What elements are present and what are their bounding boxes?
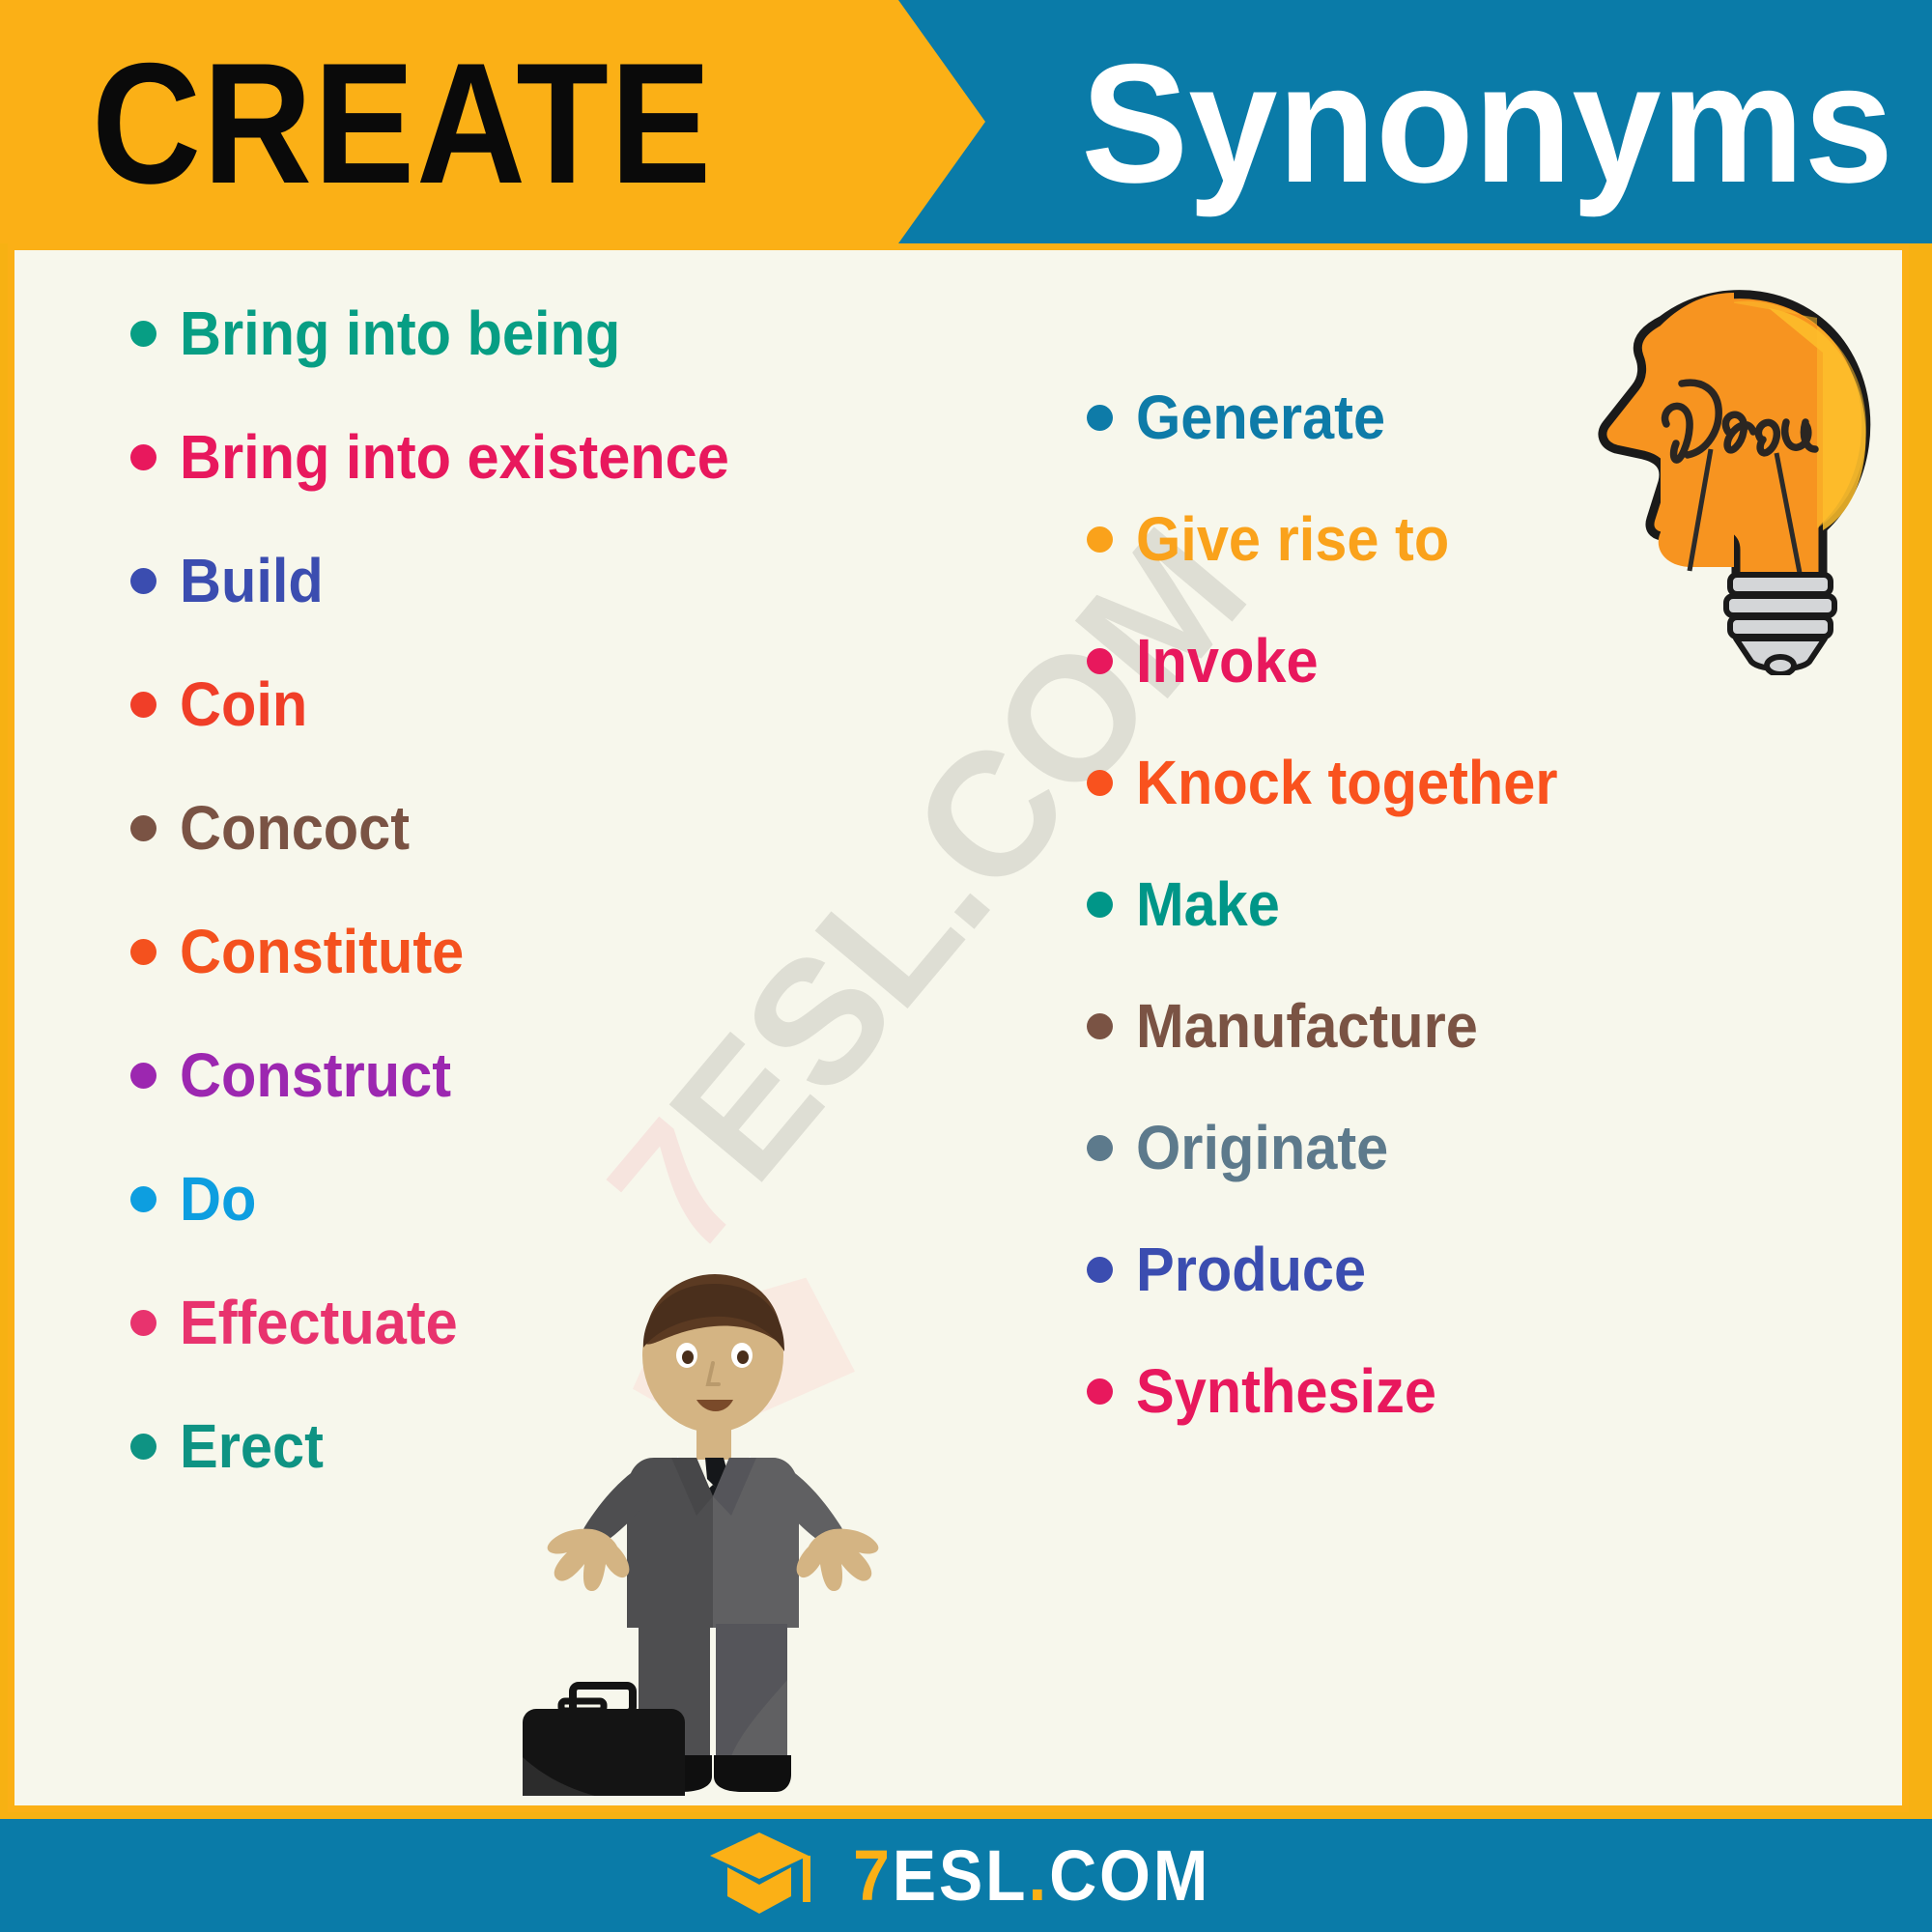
- list-item[interactable]: Erect: [130, 1384, 980, 1508]
- list-item[interactable]: Bring into being: [130, 271, 980, 395]
- synonym-label: Bring into being: [180, 302, 620, 364]
- synonym-label: Do: [180, 1168, 256, 1230]
- page-title-keyword: CREATE: [92, 27, 789, 220]
- page-title: Synonyms: [1081, 17, 1893, 230]
- list-item[interactable]: Synthesize: [1087, 1330, 1821, 1452]
- list-item[interactable]: Construct: [130, 1013, 980, 1137]
- list-item[interactable]: Invoke: [1087, 600, 1821, 722]
- synonym-label: Produce: [1136, 1238, 1366, 1300]
- bullet-icon: [1087, 405, 1113, 431]
- logo-dot: .: [1028, 1835, 1049, 1916]
- list-item[interactable]: Generate: [1087, 356, 1821, 478]
- list-item[interactable]: Do: [130, 1137, 980, 1261]
- synonym-label: Give rise to: [1136, 508, 1449, 570]
- bullet-icon: [1087, 1013, 1113, 1039]
- infographic-poster: CREATE Synonyms 7ESL.COM: [0, 0, 1932, 1932]
- synonym-label: Invoke: [1136, 630, 1319, 692]
- bullet-icon: [130, 1434, 156, 1460]
- synonym-label: Generate: [1136, 386, 1385, 448]
- graduation-cap-icon: [706, 1827, 812, 1924]
- synonyms-column-right: Generate Give rise to Invoke Knock toget…: [1087, 356, 1821, 1452]
- synonym-label: Make: [1136, 873, 1280, 935]
- bullet-icon: [130, 568, 156, 594]
- bullet-icon: [130, 692, 156, 718]
- bullet-icon: [130, 1063, 156, 1089]
- logo-esl: ESL: [893, 1835, 1029, 1916]
- synonym-label: Bring into existence: [180, 426, 729, 488]
- list-item[interactable]: Make: [1087, 843, 1821, 965]
- synonym-label: Synthesize: [1136, 1360, 1436, 1422]
- logo-com: COM: [1049, 1835, 1210, 1916]
- list-item[interactable]: Produce: [1087, 1208, 1821, 1330]
- bullet-icon: [130, 815, 156, 841]
- synonym-label: Manufacture: [1136, 995, 1478, 1057]
- synonym-label: Originate: [1136, 1117, 1388, 1179]
- bullet-icon: [1087, 1378, 1113, 1405]
- bullet-icon: [130, 321, 156, 347]
- bullet-icon: [130, 939, 156, 965]
- list-item[interactable]: Constitute: [130, 890, 980, 1013]
- bullet-icon: [130, 1186, 156, 1212]
- bullet-icon: [130, 444, 156, 470]
- synonym-label: Concoct: [180, 797, 410, 859]
- list-item[interactable]: Coin: [130, 642, 980, 766]
- bullet-icon: [1087, 770, 1113, 796]
- synonym-label: Knock together: [1136, 752, 1558, 813]
- bullet-icon: [1087, 1135, 1113, 1161]
- synonym-label: Coin: [180, 673, 307, 735]
- bullet-icon: [1087, 648, 1113, 674]
- list-item[interactable]: Manufacture: [1087, 965, 1821, 1087]
- synonym-label: Effectuate: [180, 1292, 458, 1353]
- bullet-icon: [1087, 892, 1113, 918]
- synonym-label: Erect: [180, 1415, 324, 1477]
- content-card: 7ESL.COM: [8, 243, 1909, 1812]
- logo-seven: 7: [853, 1835, 893, 1916]
- synonym-label: Build: [180, 550, 324, 611]
- bullet-icon: [1087, 1257, 1113, 1283]
- bullet-icon: [1087, 526, 1113, 553]
- header-banner: CREATE Synonyms: [0, 0, 1932, 243]
- list-item[interactable]: Bring into existence: [130, 395, 980, 519]
- synonym-label: Construct: [180, 1044, 451, 1106]
- footer-bar: 7ESL.COM: [0, 1819, 1932, 1932]
- list-item[interactable]: Originate: [1087, 1087, 1821, 1208]
- synonym-label: Constitute: [180, 921, 464, 982]
- list-item[interactable]: Build: [130, 519, 980, 642]
- bullet-icon: [130, 1310, 156, 1336]
- list-item[interactable]: Effectuate: [130, 1261, 980, 1384]
- list-item[interactable]: Knock together: [1087, 722, 1821, 843]
- site-logo-text[interactable]: 7ESL.COM: [853, 1840, 1210, 1912]
- list-item[interactable]: Give rise to: [1087, 478, 1821, 600]
- synonyms-column-left: Bring into being Bring into existence Bu…: [130, 271, 980, 1508]
- list-item[interactable]: Concoct: [130, 766, 980, 890]
